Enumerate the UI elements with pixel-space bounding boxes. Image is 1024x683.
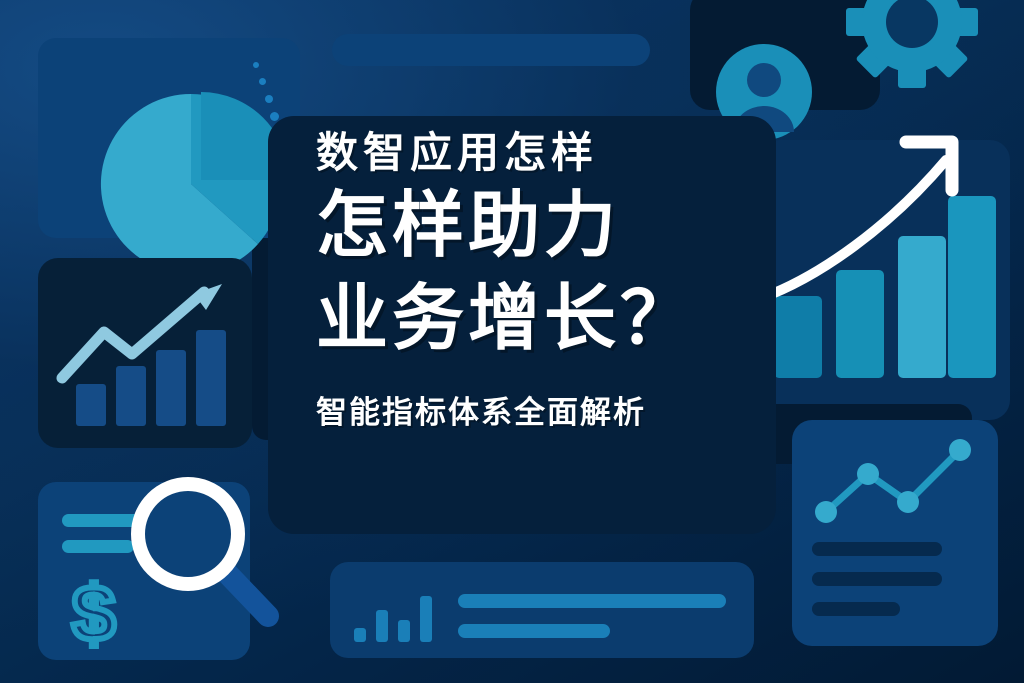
rising-arrow-head-icon — [194, 284, 222, 310]
headline-eyebrow: 数智应用怎样 — [316, 126, 756, 180]
left-bar-chart — [38, 258, 252, 448]
bar — [376, 610, 388, 642]
data-point — [857, 463, 879, 485]
bar — [156, 350, 186, 426]
placeholder-line — [458, 624, 610, 638]
bar — [898, 236, 946, 378]
headline-line-2: 业务增长？ — [316, 273, 756, 367]
placeholder-line — [812, 572, 942, 586]
decor-dot — [265, 95, 273, 103]
avatar-head-icon — [747, 63, 781, 97]
top-placeholder-bar — [332, 34, 650, 66]
gear-icon[interactable] — [812, 0, 1012, 94]
data-point — [949, 439, 971, 461]
magnifier-handle-icon — [226, 572, 268, 616]
line-chart — [810, 434, 990, 534]
data-point — [815, 501, 837, 523]
bar — [774, 296, 822, 378]
bar — [116, 366, 146, 426]
bar — [398, 620, 410, 642]
decor-dot — [259, 78, 266, 85]
summary-bar-card[interactable] — [330, 562, 754, 658]
pie-chart-card[interactable] — [38, 38, 300, 238]
data-point — [897, 491, 919, 513]
bar — [76, 384, 106, 426]
right-bar-chart — [760, 128, 1000, 388]
magnifier-icon[interactable] — [122, 468, 292, 638]
line-chart-card[interactable] — [792, 420, 998, 646]
bar — [354, 628, 366, 642]
bar — [948, 196, 996, 378]
headline-line-1: 怎样助力 — [316, 180, 756, 274]
svg-text:$: $ — [72, 569, 115, 657]
bar — [836, 270, 884, 378]
bar — [196, 330, 226, 426]
placeholder-line — [812, 542, 942, 556]
decor-dot — [270, 112, 279, 121]
placeholder-line — [458, 594, 726, 608]
decor-dot — [253, 62, 259, 68]
headline-block: 数智应用怎样 怎样助力 业务增长？ 智能指标体系全面解析 — [316, 126, 756, 432]
line-series — [826, 450, 960, 512]
magnifier-lens-icon — [138, 484, 238, 584]
bar — [420, 596, 432, 642]
mini-bar-chart — [354, 596, 440, 642]
placeholder-line — [812, 602, 900, 616]
poster-canvas: $ — [0, 0, 1024, 683]
bar-chart-card[interactable] — [38, 258, 252, 448]
headline-subtitle: 智能指标体系全面解析 — [316, 387, 756, 432]
